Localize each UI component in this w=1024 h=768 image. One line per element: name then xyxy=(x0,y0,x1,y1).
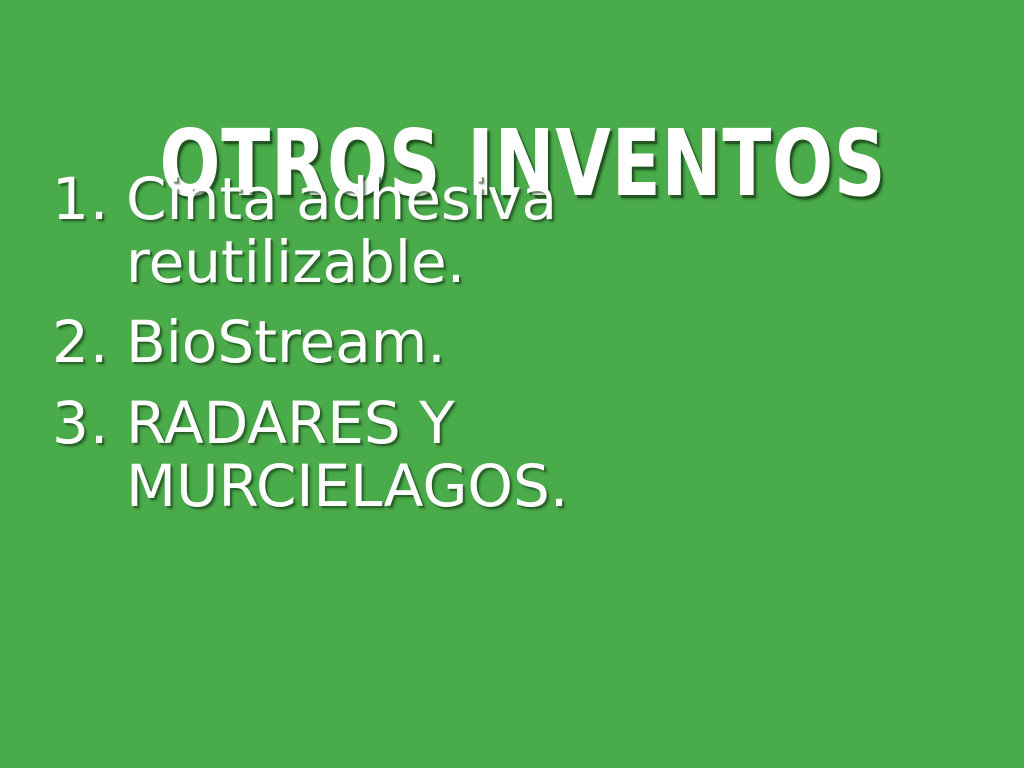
numbered-list: 1. Cinta adhesiva reutilizable. 2. BioSt… xyxy=(52,168,952,535)
list-item: 2. BioStream. xyxy=(52,311,952,374)
list-item: 3. RADARES Y MURCIELAGOS. xyxy=(52,392,952,517)
list-item: 1. Cinta adhesiva reutilizable. xyxy=(52,168,952,293)
list-item-number: 2. xyxy=(52,311,126,374)
list-item-text: BioStream. xyxy=(126,311,686,374)
list-item-text: Cinta adhesiva reutilizable. xyxy=(126,168,686,293)
list-item-number: 1. xyxy=(52,168,126,231)
list-item-number: 3. xyxy=(52,392,126,455)
presentation-slide: OTROS INVENTOS 1. Cinta adhesiva reutili… xyxy=(0,0,1024,768)
list-item-text: RADARES Y MURCIELAGOS. xyxy=(126,392,686,517)
